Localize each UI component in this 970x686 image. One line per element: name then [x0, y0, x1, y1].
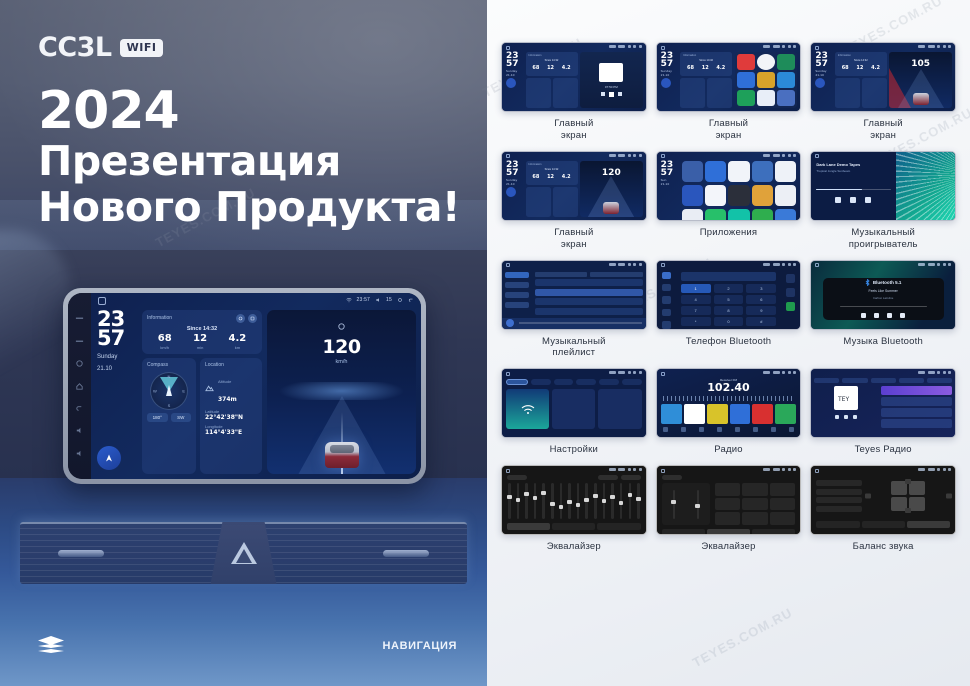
preset-buttons[interactable] [715, 483, 796, 525]
list-item[interactable] [881, 397, 952, 406]
tab-eq [816, 521, 859, 528]
teyes-body: TEY [814, 386, 952, 432]
preset-button[interactable] [715, 512, 741, 525]
dial-key[interactable]: * [681, 317, 711, 326]
balance-presets[interactable] [816, 480, 861, 512]
thumbnail-music-player[interactable]: Dark Lane Demo Tapes Tropical Jungle Sun… [810, 151, 956, 221]
mini-widgets: Information Since 14:32 68124.2 [835, 52, 887, 108]
mini-stats: 68124.2 [529, 65, 575, 71]
status-bar [763, 263, 796, 266]
dial-key[interactable]: # [746, 317, 776, 326]
volume-down-icon[interactable] [75, 426, 84, 435]
player-controls[interactable] [835, 415, 857, 419]
mini-since: Since 14:32 [838, 59, 884, 62]
home-button-icon[interactable] [98, 297, 106, 305]
status-bar [918, 45, 951, 48]
tab-sound[interactable] [531, 379, 551, 385]
car-3d-model [913, 93, 929, 105]
app-icon[interactable] [705, 209, 726, 220]
stat-unit: min [193, 345, 207, 350]
eq-sliders[interactable] [662, 483, 710, 525]
equalizer-actions[interactable] [598, 475, 641, 480]
app-icon[interactable] [728, 209, 749, 220]
status-volume: 15 [386, 297, 392, 303]
list-item[interactable] [881, 419, 952, 428]
list-item[interactable] [535, 298, 643, 305]
eq-band[interactable] [585, 483, 588, 519]
album-art [506, 319, 514, 327]
clock-minutes: 57 [97, 329, 137, 348]
gallery-item[interactable]: 2357Sun21.10 [656, 151, 802, 251]
mini-location-card [553, 78, 578, 108]
navigation-fab-button[interactable] [97, 446, 121, 470]
teyes-logo-icon: TEY [837, 393, 855, 404]
list-item[interactable] [535, 289, 643, 296]
compass-card[interactable]: Compass N S E W [142, 358, 196, 474]
wifi-icon [346, 297, 352, 303]
thumbnail-teyes-radio[interactable]: TEY [810, 368, 956, 438]
thumbnail-sound-balance[interactable] [810, 465, 956, 535]
altitude-value: 374m [218, 396, 237, 403]
eq-band[interactable] [517, 483, 520, 519]
home-icon [506, 46, 510, 50]
gallery-item[interactable]: Баланс звука [810, 465, 956, 553]
volume-up-icon[interactable] [75, 449, 84, 458]
compass-s: S [168, 403, 171, 408]
information-card[interactable]: Information Since 14:32 [142, 310, 262, 354]
preset-label [662, 475, 682, 480]
speed-value: 120 [580, 168, 643, 178]
gallery-item[interactable]: 2357Sunday21.10 Information Since 14:32 … [810, 42, 956, 142]
phone-sidebar[interactable] [657, 270, 677, 329]
eq-band[interactable] [637, 483, 640, 519]
dial-key[interactable]: 2 [714, 284, 744, 293]
preset-button[interactable] [770, 483, 796, 496]
player-controls[interactable] [816, 197, 890, 203]
eq-band[interactable] [629, 483, 632, 519]
mini-widgets: Information Since 14:32 68124.2 [680, 52, 732, 108]
status-bar [763, 154, 796, 157]
gallery-item[interactable]: Эквалайзер [501, 465, 647, 553]
dialer-actions[interactable] [780, 270, 800, 329]
dialer-main: 1 2 3 4 5 6 7 8 9 * 0 # [677, 270, 781, 329]
tab-display[interactable] [554, 379, 574, 385]
stat-unit: km/h [158, 345, 172, 350]
progress-bar[interactable] [816, 189, 890, 191]
radio-toolbar[interactable] [661, 427, 797, 432]
app-icon[interactable] [682, 185, 703, 206]
status-bar [609, 371, 642, 374]
favorite-icon [786, 274, 795, 283]
trip-since-label: Since 14:32 [147, 326, 257, 332]
gallery-caption: Музыкальныйплейлист [542, 336, 606, 360]
thumbnail-home-media[interactable]: 2357Sunday21.10 Information Since 14:32 … [501, 42, 647, 112]
mini-navigation-panel: 105 [889, 52, 952, 108]
next-icon[interactable] [865, 197, 871, 203]
gallery-item[interactable]: Музыкальныйплейлист [501, 260, 647, 360]
mini-information-card: Information Since 14:32 68124.2 [526, 52, 578, 76]
track-title: Feels Like Summer [869, 289, 898, 293]
mini-navigation-panel: 120 [580, 161, 643, 217]
presentation-slide: TEYES.COM.RU TEYES.COM.RU TEYES.COM.RU C… [0, 0, 970, 686]
screenshot-gallery-panel: TEYES.COM.RU TEYES.COM.RU TEYES.COM.RU T… [487, 0, 970, 686]
clock-column: 23 57 Sunday 21.10 [97, 310, 137, 474]
status-bar [918, 263, 951, 266]
speed-value: 120 [267, 338, 416, 357]
mountain-icon [205, 384, 214, 392]
bluetooth-icon [865, 279, 870, 286]
tab-balance [752, 529, 795, 535]
equalizer-header [507, 475, 641, 480]
longitude-value: 114°4'33"E [205, 429, 257, 436]
thumbnail-radio[interactable]: Receiver FM 102.40 [656, 368, 802, 438]
head-unit-device: 23:57 15 23 57 Sunday [63, 288, 426, 484]
thumbnail-settings[interactable] [501, 368, 647, 438]
equalizer-tabs[interactable] [507, 523, 641, 530]
player-controls[interactable] [861, 313, 905, 318]
status-bar [763, 371, 796, 374]
home-icon [815, 46, 819, 50]
dial-key[interactable]: 7 [681, 306, 711, 315]
tab-wifi[interactable] [506, 379, 528, 385]
previous-icon [861, 313, 866, 318]
track-artist: Carbon Lazuline [873, 296, 893, 300]
eq-band[interactable] [551, 483, 554, 519]
app-icon[interactable] [775, 209, 796, 220]
mini-media-panel: 07:50 PM [580, 52, 643, 108]
tab-about[interactable] [622, 379, 642, 385]
headline-line-1: Презентация [38, 138, 460, 184]
previous-icon[interactable] [835, 197, 841, 203]
app-icon[interactable] [682, 161, 703, 182]
preset-button[interactable] [742, 498, 768, 511]
mini-lower-cards [680, 78, 732, 108]
preset-button[interactable] [742, 512, 768, 525]
album-art [599, 63, 623, 82]
gallery-item[interactable]: Receiver FM 102.40 [656, 368, 802, 456]
mini-clock: 2357Sunday21.10 [506, 52, 523, 108]
clock-date: 21.10 [97, 365, 137, 373]
eq-band[interactable] [525, 483, 528, 519]
dial-key[interactable]: 6 [746, 295, 776, 304]
compass-w: W [153, 389, 157, 394]
gallery-item[interactable]: 2357Sunday21.10 Information Since 14:32 … [501, 42, 647, 142]
gallery-item[interactable]: TEY Teyes Ра [810, 368, 956, 456]
preset-station[interactable] [730, 404, 751, 424]
tab-apps[interactable] [576, 379, 596, 385]
thumbnail-equalizer-2[interactable] [656, 465, 802, 535]
mini-clock-day: Sunday21.10 [661, 70, 678, 78]
layers-icon [38, 636, 64, 656]
dial-key[interactable]: 5 [714, 295, 744, 304]
app-icon[interactable] [728, 161, 749, 182]
preset-button[interactable] [715, 483, 741, 496]
mode-button-icon[interactable] [75, 337, 84, 346]
preset-station[interactable] [752, 404, 773, 424]
head-unit-display: 23:57 15 23 57 Sunday [91, 293, 421, 479]
gallery-item[interactable]: 2357Sunday21.10 Information Since 14:32 … [501, 151, 647, 251]
preset-button[interactable] [770, 498, 796, 511]
widgets-column: Information Since 14:32 [142, 310, 262, 474]
call-button-icon [786, 302, 795, 311]
mini-compass-card [526, 187, 551, 217]
list-item[interactable] [535, 308, 643, 315]
mini-widgets: Information Since 14:32 68124.2 [526, 52, 578, 108]
dialpad-icon [662, 272, 671, 279]
navigation-arrow-icon [104, 453, 114, 463]
trip-stat: 4.2 km [229, 334, 247, 350]
thumbnail-bluetooth-phone[interactable]: 1 2 3 4 5 6 7 8 9 * 0 # [656, 260, 802, 330]
trip-stats: 68 km/h 12 min 4.2 [147, 334, 257, 350]
watermark: TEYES.COM.RU [690, 605, 795, 670]
status-bar [763, 45, 796, 48]
home-icon [506, 263, 510, 267]
app-icon[interactable] [682, 209, 703, 220]
gallery-caption: Настройки [550, 444, 598, 456]
media-controls[interactable] [601, 92, 622, 97]
thumbnail-apps[interactable]: 2357Sun21.10 [656, 151, 802, 221]
app-drawer-grid[interactable] [682, 161, 797, 217]
tab-eq [662, 529, 705, 535]
teyes-tabs[interactable] [814, 378, 952, 383]
visualizer [896, 152, 955, 220]
previous-icon [835, 415, 839, 419]
gallery-caption: Телефон Bluetooth [686, 336, 772, 348]
mini-stats: 68124.2 [529, 174, 575, 180]
contacts-icon [662, 284, 671, 291]
mini-clock: 2357Sunday21.10 [815, 52, 832, 108]
mini-location-card [862, 78, 887, 108]
more-card[interactable] [598, 389, 641, 429]
navigation-label: НАВИГАЦИЯ [383, 640, 457, 652]
home-icon [506, 372, 510, 376]
gallery-item[interactable]: 2357Sunday21.10 Information Since 14:32 … [656, 42, 802, 142]
rear-button[interactable] [905, 508, 911, 513]
front-button[interactable] [905, 479, 911, 484]
mini-since: Since 14:32 [529, 59, 575, 62]
status-bar [609, 468, 642, 471]
mini-lower-cards [526, 78, 578, 108]
list-item[interactable] [535, 279, 643, 286]
tab-system[interactable] [599, 379, 619, 385]
gallery-caption: Главныйэкран [709, 118, 748, 142]
eq-band[interactable] [542, 483, 545, 519]
dial-key[interactable]: 4 [681, 295, 711, 304]
bluetooth-title: Bluetooth 5.1 [865, 279, 902, 286]
location-card[interactable]: Location Altitude 374m [200, 358, 262, 474]
next-icon [853, 415, 857, 419]
hero-panel: TEYES.COM.RU TEYES.COM.RU TEYES.COM.RU C… [0, 0, 487, 686]
carplay-card[interactable] [552, 389, 595, 429]
windshield-glare [0, 230, 70, 410]
pause-icon[interactable] [850, 197, 856, 203]
preset-station[interactable] [775, 404, 796, 424]
next-icon [900, 313, 905, 318]
playlist-tabs[interactable] [535, 272, 643, 277]
compass-needle-icon [166, 385, 172, 396]
tab-eq [507, 523, 550, 530]
mini-lower-cards [835, 78, 887, 108]
mini-location-card [553, 187, 578, 217]
dial-key[interactable]: 1 [681, 284, 711, 293]
settings-cards[interactable] [506, 389, 642, 429]
frequency-scale[interactable] [663, 396, 795, 401]
app-icon[interactable] [705, 185, 726, 206]
eq-band[interactable] [577, 483, 580, 519]
eq-slider[interactable] [673, 490, 675, 519]
navigation-fab-button[interactable] [506, 187, 516, 197]
app-icon[interactable] [705, 161, 726, 182]
headline: 2024 Презентация Нового Продукта! [38, 84, 460, 231]
mini-compass-card [526, 78, 551, 108]
equalizer-tabs[interactable] [662, 529, 796, 535]
head-unit-side-buttons[interactable] [68, 293, 91, 479]
car-interior-photo: 23:57 15 23 57 Sunday [0, 250, 487, 686]
gallery-caption: Teyes Радио [855, 444, 912, 456]
mini-information-card: Information Since 14:32 68124.2 [526, 161, 578, 185]
dial-key[interactable]: 9 [746, 306, 776, 315]
thumbnail-bluetooth-music[interactable]: Bluetooth 5.1 Feels Like Summer Carbon L… [810, 260, 956, 330]
status-bar [609, 154, 642, 157]
back-icon[interactable] [75, 404, 84, 413]
list-item[interactable] [881, 408, 952, 417]
gear-icon[interactable] [397, 297, 403, 303]
left-button[interactable] [865, 494, 871, 499]
navigation-panel[interactable]: 120 km/h [267, 310, 416, 474]
power-button-icon[interactable] [75, 314, 84, 323]
dial-pad[interactable]: 1 2 3 4 5 6 7 8 9 * 0 # [681, 284, 777, 326]
preset-station[interactable] [684, 404, 705, 424]
phone-number-input[interactable] [681, 272, 777, 281]
volume-icon [375, 297, 381, 303]
dial-key[interactable]: 3 [746, 284, 776, 293]
lower-widgets: Compass N S E W [142, 358, 262, 474]
app-icon[interactable] [775, 161, 796, 182]
power-icon[interactable] [75, 359, 84, 368]
home-icon[interactable] [75, 382, 84, 391]
equalizer-tabs[interactable] [816, 521, 950, 528]
progress-bar[interactable] [519, 322, 642, 324]
station-list[interactable] [881, 386, 952, 432]
settings-tabs[interactable] [506, 379, 642, 385]
gallery-item[interactable]: Bluetooth 5.1 Feels Like Summer Carbon L… [810, 260, 956, 360]
eq-slider[interactable] [697, 490, 699, 519]
gallery-caption: Баланс звука [853, 541, 914, 553]
eq-band[interactable] [611, 483, 614, 519]
app-icon[interactable] [752, 161, 773, 182]
gallery-item[interactable]: 1 2 3 4 5 6 7 8 9 * 0 # [656, 260, 802, 360]
thumbnail-home-drive[interactable]: 2357Sunday21.10 Information Since 14:32 … [810, 42, 956, 112]
app-icon[interactable] [752, 185, 773, 206]
home-icon [661, 46, 665, 50]
eq-band[interactable] [594, 483, 597, 519]
app-icon[interactable] [775, 185, 796, 206]
playlist-player-bar[interactable] [502, 318, 646, 329]
vent-slot-right [383, 550, 429, 557]
dial-key[interactable]: 8 [714, 306, 744, 315]
gallery-item[interactable]: Эквалайзер [656, 465, 802, 553]
headline-line-2: Нового Продукта! [38, 184, 460, 230]
clock-day: Sunday [97, 353, 137, 361]
mini-card-title: Information [529, 54, 575, 57]
preset-station[interactable] [661, 404, 682, 424]
navigation-fab-button[interactable] [661, 78, 671, 88]
equalizer-bands[interactable] [507, 483, 641, 519]
mini-clock: 2357Sunday21.10 [661, 52, 678, 108]
balance-body [816, 475, 950, 517]
progress-bar[interactable] [840, 306, 927, 307]
gallery-caption: Главныйэкран [554, 227, 593, 251]
balance-pad[interactable] [867, 481, 950, 511]
mini-clock-day: Sunday21.10 [506, 70, 523, 78]
dial-key[interactable]: 0 [714, 317, 744, 326]
tab-fader [862, 521, 905, 528]
list-item[interactable] [881, 386, 952, 395]
home-icon [815, 469, 819, 473]
mini-widgets: Information Since 14:32 68124.2 [526, 161, 578, 217]
mini-since: Since 14:32 [529, 168, 575, 171]
eq-band[interactable] [568, 483, 571, 519]
tab-balance [597, 523, 640, 530]
search-icon [662, 296, 671, 303]
compass-readouts: 180° SW [147, 413, 191, 422]
radio-presets[interactable] [661, 404, 797, 424]
eq-band[interactable] [534, 483, 537, 519]
speaker-grid [891, 481, 925, 511]
navigation-fab-button[interactable] [506, 78, 516, 88]
information-actions [236, 314, 257, 323]
app-icon[interactable] [752, 209, 773, 220]
right-button[interactable] [946, 494, 952, 499]
home-icon [506, 154, 510, 158]
preset-button[interactable] [770, 512, 796, 525]
eq-band[interactable] [603, 483, 606, 519]
thumbnail-home-nav[interactable]: 2357Sunday21.10 Information Since 14:32 … [501, 151, 647, 221]
preset-station[interactable] [707, 404, 728, 424]
thumbnail-music-playlist[interactable] [501, 260, 647, 330]
mini-app-shortcuts[interactable] [735, 52, 798, 108]
eq-band[interactable] [620, 483, 623, 519]
settings-icon [662, 321, 671, 328]
thumbnail-equalizer[interactable] [501, 465, 647, 535]
mini-clock-day: Sunday21.10 [506, 179, 523, 187]
thumbnail-home-apps[interactable]: 2357Sunday21.10 Information Since 14:32 … [656, 42, 802, 112]
navigation-fab-button[interactable] [815, 78, 825, 88]
status-time: 23:57 [357, 297, 371, 303]
headline-year: 2024 [38, 84, 460, 138]
wifi-card[interactable] [506, 389, 549, 429]
mini-compass-card [680, 78, 705, 108]
player-info: Dark Lane Demo Tapes Tropical Jungle Sun… [811, 152, 895, 220]
tab-fader [707, 529, 750, 535]
refresh-icon[interactable] [236, 314, 245, 323]
gallery-item[interactable]: Настройки [501, 368, 647, 456]
mini-card-title: Information [529, 163, 575, 166]
hazard-triangle-icon [231, 542, 257, 564]
settings-icon[interactable] [248, 314, 257, 323]
preset-button[interactable] [742, 483, 768, 496]
eq-band[interactable] [508, 483, 511, 519]
gallery-item[interactable]: Dark Lane Demo Tapes Tropical Jungle Sun… [810, 151, 956, 251]
eq-band[interactable] [560, 483, 563, 519]
compass-heading: 180° [147, 413, 168, 422]
back-arrow-icon[interactable] [408, 297, 414, 303]
home-icon [815, 263, 819, 267]
app-icon[interactable] [728, 185, 749, 206]
home-screen-body: 23 57 Sunday 21.10 [97, 297, 416, 474]
preset-button[interactable] [715, 498, 741, 511]
wifi-badge: WIFI [120, 39, 164, 57]
